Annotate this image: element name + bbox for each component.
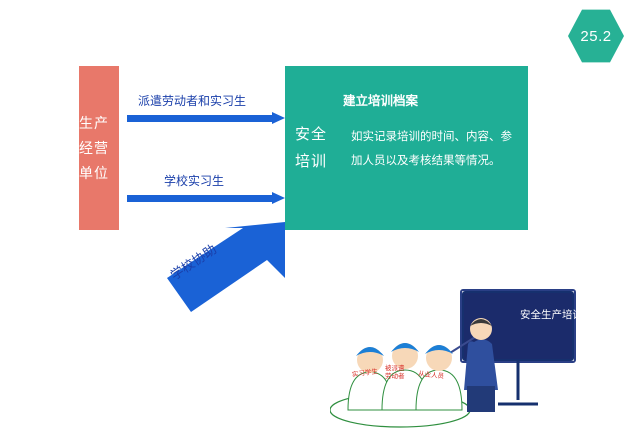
arrow-2-school-intern: [127, 192, 285, 205]
whiteboard-caption: 安全生产培训: [520, 307, 583, 322]
arrow-head-icon: [272, 192, 285, 204]
arrow-head-icon: [272, 112, 285, 124]
arrow-1-dispatch: [127, 112, 285, 125]
slide-number-text: 25.2: [580, 28, 611, 45]
arrow-2-label: 学校实习生: [164, 172, 224, 189]
trainee-tag-2-line2: 劳动者: [385, 373, 405, 381]
training-scene-illustration: [330, 282, 580, 432]
training-archive-title: 建立培训档案: [343, 90, 519, 109]
safety-training-box: 安全培训 建立培训档案 如实记录培训的时间、内容、参加人员以及考核结果等情况。: [285, 66, 528, 230]
arrow-1-label: 派遣劳动者和实习生: [138, 92, 246, 109]
safety-training-content: 建立培训档案 如实记录培训的时间、内容、参加人员以及考核结果等情况。: [343, 90, 519, 173]
training-archive-body: 如实记录培训的时间、内容、参加人员以及考核结果等情况。: [343, 125, 519, 173]
production-unit-label: 生产经营单位: [79, 111, 119, 186]
safety-training-vertical-label: 安全培训: [295, 66, 327, 230]
arrow-shaft: [127, 115, 272, 122]
slide-number-badge: 25.2: [568, 8, 624, 64]
instructor-legs: [467, 386, 495, 412]
arrow-shaft: [127, 195, 272, 202]
trainee-tag-2-line1: 被派遣: [385, 365, 405, 373]
production-unit-box: 生产经营单位: [79, 66, 119, 230]
trainee-tag-2: 被派遣 劳动者: [385, 365, 405, 381]
